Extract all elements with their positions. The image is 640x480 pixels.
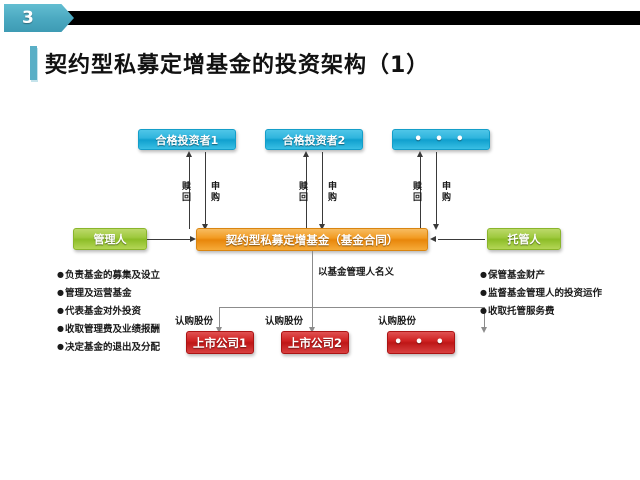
fund-box[interactable]: 契约型私募定增基金（基金合同） — [196, 228, 428, 251]
page-title: 契约型私募定增基金的投资架构（1） — [45, 47, 429, 79]
manager-to-fund-line — [147, 239, 192, 240]
page-number-text: 3 — [22, 8, 34, 28]
custodian-to-fund-arrow — [430, 236, 436, 242]
subscribe-line-1 — [205, 152, 206, 225]
title-accent-rule — [30, 46, 37, 80]
slide-canvas: 3 契约型私募定增基金的投资架构（1） 合格投资者1 合格投资者2 • • • … — [0, 0, 640, 480]
custodian-duties-list: 保管基金财产 监督基金管理人的投资运作 收取托管服务费 — [480, 266, 605, 320]
redeem-arrow-1 — [186, 151, 192, 157]
subscribe-arrow-3 — [433, 224, 439, 230]
company-box-1[interactable]: 上市公司1 — [186, 331, 254, 354]
company-arrow-3 — [481, 327, 487, 333]
subscribe-label-3: 申购 — [441, 182, 452, 204]
companies-bus-line — [219, 307, 484, 308]
investor-box-1-label: 合格投资者1 — [156, 132, 219, 148]
manager-box-label: 管理人 — [94, 231, 127, 247]
header-bar — [30, 11, 640, 25]
buy-shares-label-2: 认购股份 — [265, 313, 303, 327]
redeem-label-3: 赎回 — [412, 182, 423, 204]
subscribe-label-1: 申购 — [210, 182, 221, 204]
manager-duties-list: 负责基金的募集及设立 管理及运营基金 代表基金对外投资 收取管理费及业绩报酬 决… — [57, 266, 177, 356]
buy-shares-label-1: 认购股份 — [175, 313, 213, 327]
redeem-arrow-2 — [303, 151, 309, 157]
investor-box-more-label: • • • — [414, 132, 468, 147]
subscribe-line-2 — [322, 152, 323, 225]
company-box-2-label: 上市公司2 — [288, 335, 342, 351]
redeem-label-1: 赎回 — [181, 182, 192, 204]
list-item: 监督基金管理人的投资运作 — [480, 284, 605, 302]
list-item: 负责基金的募集及设立 — [57, 266, 177, 284]
investor-box-2-label: 合格投资者2 — [283, 132, 346, 148]
company-drop-1 — [219, 307, 220, 329]
custodian-box-label: 托管人 — [508, 231, 541, 247]
list-item: 收取管理费及业绩报酬 — [57, 320, 177, 338]
list-item: 收取托管服务费 — [480, 302, 605, 320]
company-box-1-label: 上市公司1 — [193, 335, 247, 351]
fund-stem-line — [312, 251, 313, 307]
list-item: 决定基金的退出及分配 — [57, 338, 177, 356]
custodian-to-fund-line — [438, 239, 485, 240]
company-box-2[interactable]: 上市公司2 — [281, 331, 349, 354]
company-drop-2 — [312, 307, 313, 329]
investor-box-1[interactable]: 合格投资者1 — [138, 129, 236, 150]
page-number-badge: 3 — [4, 4, 74, 32]
redeem-arrow-3 — [417, 151, 423, 157]
list-item: 管理及运营基金 — [57, 284, 177, 302]
company-box-more-label: • • • — [394, 335, 448, 350]
investor-box-more[interactable]: • • • — [392, 129, 490, 150]
list-item: 保管基金财产 — [480, 266, 605, 284]
in-manager-name-label: 以基金管理人名义 — [318, 264, 394, 278]
custodian-box[interactable]: 托管人 — [487, 228, 561, 250]
subscribe-line-3 — [436, 152, 437, 225]
redeem-label-2: 赎回 — [298, 182, 309, 204]
investor-box-2[interactable]: 合格投资者2 — [265, 129, 363, 150]
manager-box[interactable]: 管理人 — [73, 228, 147, 250]
company-box-more[interactable]: • • • — [387, 331, 455, 354]
subscribe-label-2: 申购 — [327, 182, 338, 204]
buy-shares-label-3: 认购股份 — [378, 313, 416, 327]
fund-box-label: 契约型私募定增基金（基金合同） — [226, 232, 399, 248]
list-item: 代表基金对外投资 — [57, 302, 177, 320]
